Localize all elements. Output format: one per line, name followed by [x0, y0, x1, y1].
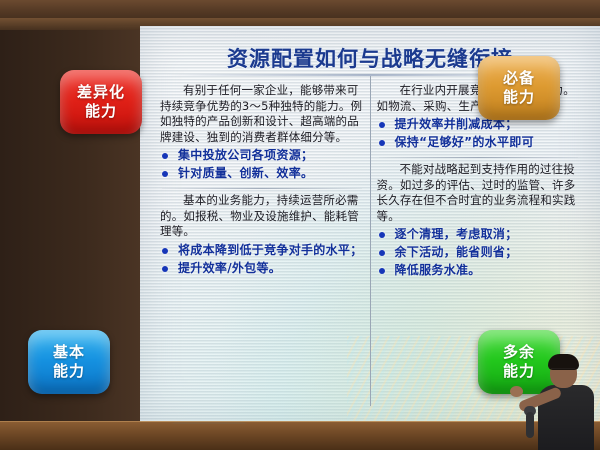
list-item: 集中投放公司各项资源；: [160, 148, 364, 163]
slide-title-text: 资源配置如何与战略无缝衔接: [227, 43, 513, 73]
left-section-divider: [162, 188, 362, 189]
badge-reflection-bottom-left: [168, 420, 250, 424]
badge-line-2: 能力: [85, 102, 117, 121]
left-paragraph-2: 基本的业务能力，持续运营所必需的。如报税、物业及设施维护、能耗管理等。: [160, 193, 364, 240]
microphone-icon: [526, 412, 534, 438]
left-paragraph-1: 有别于任何一家企业，能够带来可持续竞争优势的3～5种独特的能力。例如独特的产品创…: [160, 83, 364, 145]
right-bullet-list-1: 提升效率并削减成本； 保持“足够好”的水平即可: [377, 117, 581, 150]
badge-line-1: 基本: [53, 343, 85, 362]
badge-line-1: 差异化: [77, 83, 125, 102]
right-section-divider: [379, 157, 579, 158]
list-item: 余下活动，能省则省；: [377, 245, 581, 260]
list-item: 将成本降到低于竞争对手的水平；: [160, 243, 364, 258]
left-bullet-list-2: 将成本降到低于竞争对手的水平； 提升效率/外包等。: [160, 243, 364, 276]
glasses-icon: [551, 368, 575, 375]
list-item: 提升效率/外包等。: [160, 261, 364, 276]
badge-line-2: 能力: [53, 362, 85, 381]
list-item: 保持“足够好”的水平即可: [377, 135, 581, 150]
badge-differentiating-capability: 差异化 能力: [60, 70, 142, 134]
list-item: 降低服务水准。: [377, 263, 581, 278]
badge-essential-capability: 必备 能力: [478, 56, 560, 120]
right-paragraph-2: 不能对战略起到支持作用的过往投资。如过多的评估、过时的监管、许多长久存在但不合时…: [377, 162, 581, 224]
left-bullet-list-1: 集中投放公司各项资源； 针对质量、创新、效率。: [160, 148, 364, 181]
list-item: 针对质量、创新、效率。: [160, 166, 364, 181]
badge-basic-capability: 基本 能力: [28, 330, 110, 394]
presenter-person: [520, 352, 600, 450]
presenter-hand: [510, 386, 523, 397]
wooden-table: [0, 422, 600, 450]
right-bullet-list-2: 逐个清理，考虑取消； 余下活动，能省则省； 降低服务水准。: [377, 227, 581, 278]
badge-line-2: 能力: [503, 88, 535, 107]
left-column: 有别于任何一家企业，能够带来可持续竞争优势的3～5种独特的能力。例如独特的产品创…: [154, 76, 371, 406]
badge-line-1: 必备: [503, 69, 535, 88]
list-item: 逐个清理，考虑取消；: [377, 227, 581, 242]
conference-room-photo: 资源配置如何与战略无缝衔接 有别于任何一家企业，能够带来可持续竞争优势的3～5种…: [0, 0, 600, 450]
